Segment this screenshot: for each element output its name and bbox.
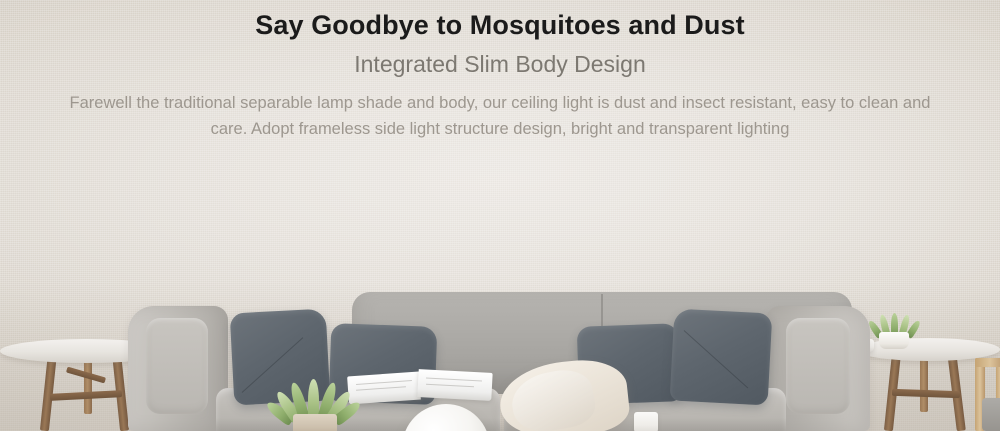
left-plant-pot bbox=[293, 414, 337, 431]
right-plant-pot bbox=[879, 332, 909, 349]
chair-seat-pad bbox=[982, 398, 1000, 431]
chair-top-rail bbox=[975, 358, 1000, 367]
ceramic-cup bbox=[634, 412, 658, 431]
product-banner: Say Goodbye to Mosquitoes and Dust Integ… bbox=[0, 0, 1000, 431]
right-table-stretcher bbox=[892, 389, 960, 398]
right-table-leg-side bbox=[920, 352, 928, 412]
banner-description: Farewell the traditional separable lamp … bbox=[60, 79, 940, 142]
left-table-leg-front bbox=[40, 352, 57, 431]
banner-subtitle: Integrated Slim Body Design bbox=[0, 42, 1000, 79]
slate-pillow-right-outer bbox=[670, 308, 773, 405]
banner-copy: Say Goodbye to Mosquitoes and Dust Integ… bbox=[0, 0, 1000, 142]
sofa-right-arm-cushion bbox=[786, 318, 850, 414]
sofa-left-arm-cushion bbox=[146, 318, 208, 414]
banner-title: Say Goodbye to Mosquitoes and Dust bbox=[0, 0, 1000, 42]
